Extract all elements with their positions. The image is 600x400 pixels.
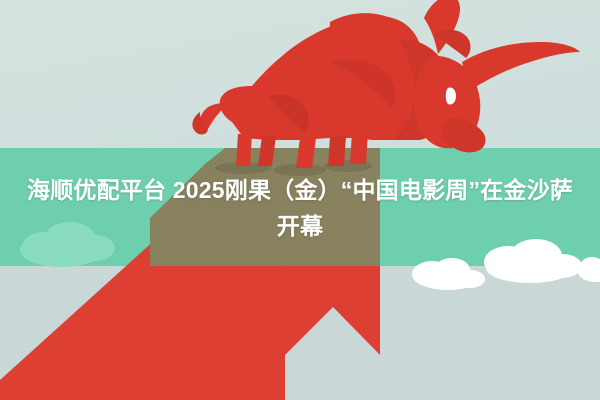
scene-graphics (0, 0, 600, 400)
banner-image: 海顺优配平台 2025刚果（金）“中国电影周”在金沙萨开幕 (0, 0, 600, 400)
red-bull-silhouette (192, 0, 580, 168)
